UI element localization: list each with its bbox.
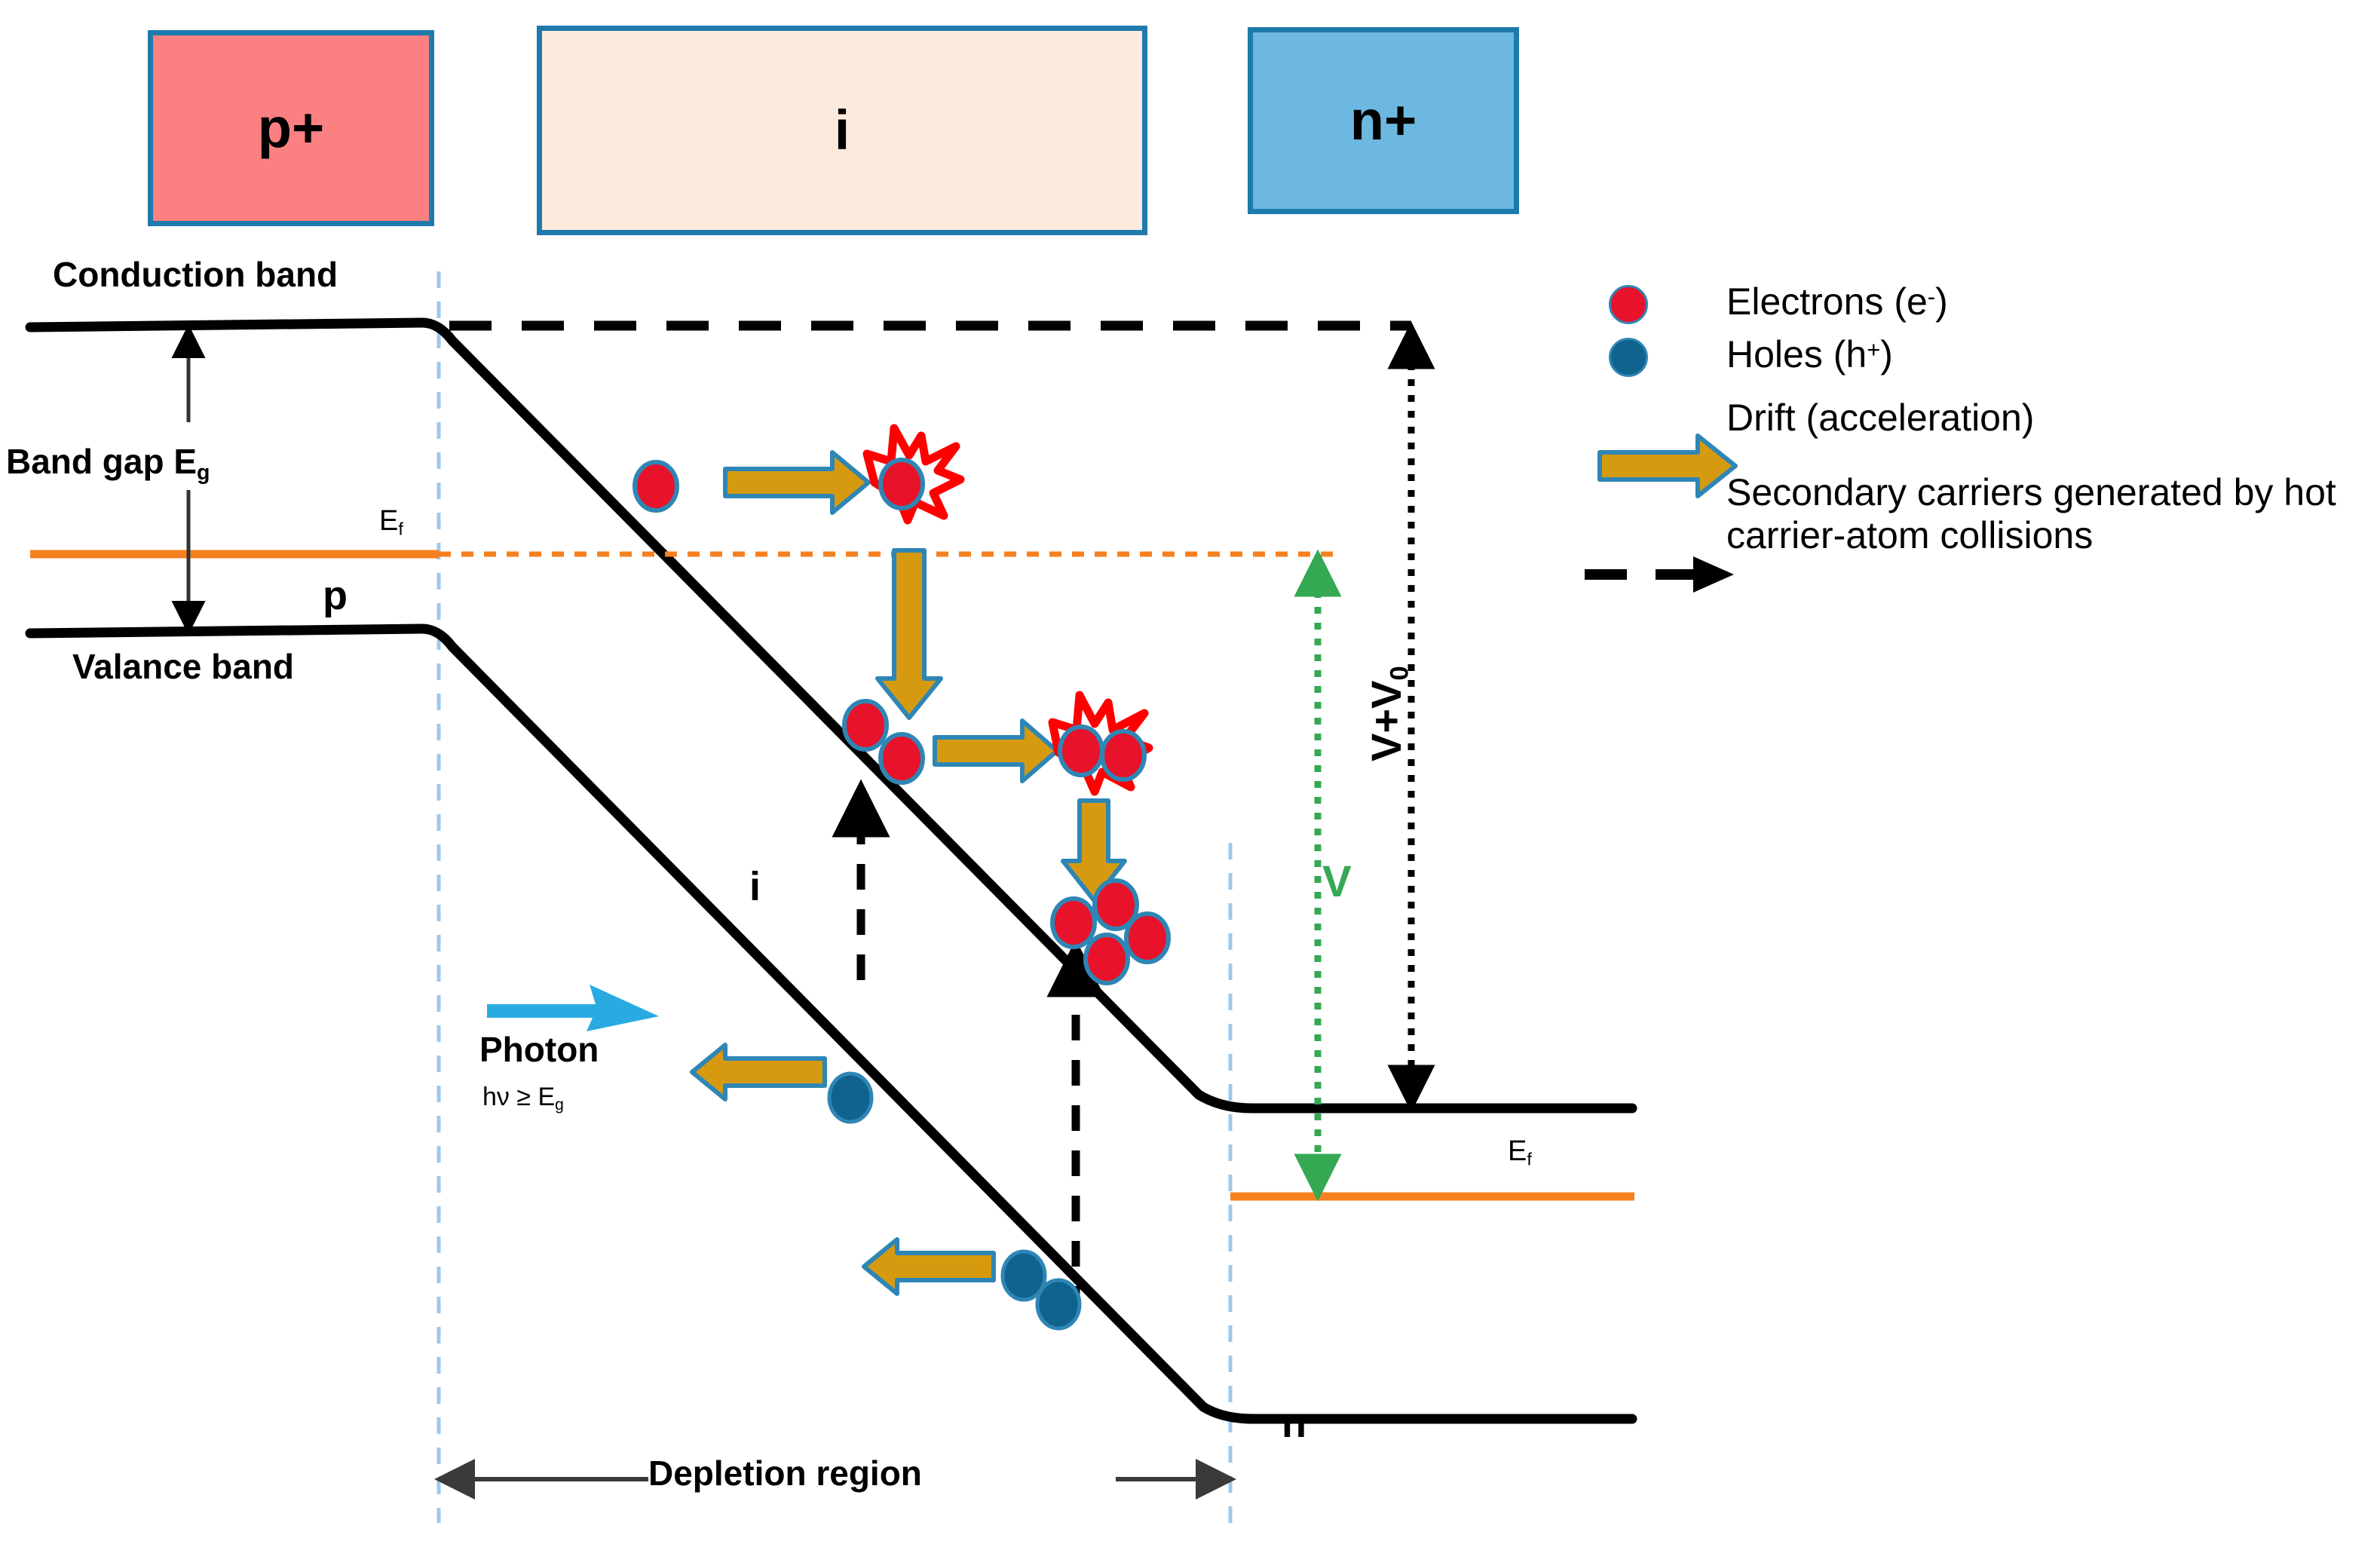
fermi-level-label-right: Ef — [1508, 1137, 1532, 1169]
conduction-band-label: Conduction band — [53, 256, 338, 293]
legend-label-secondary: Secondary carriers generated by hot carr… — [1726, 471, 2375, 557]
legend-holes-tail: ) — [1880, 333, 1893, 375]
drift-arrow-electron-3 — [935, 721, 1057, 781]
fermi-level-label-left: Ef — [379, 507, 403, 538]
legend-electrons-tail: ) — [1935, 280, 1948, 323]
legend-item-drift: Drift (acceleration) — [1583, 397, 2375, 440]
region-label-intrinsic: i — [835, 103, 850, 158]
legend-label-drift: Drift (acceleration) — [1726, 397, 2034, 440]
band-gap-label: Band gap Eg — [6, 443, 210, 485]
region-box-n-plus[interactable]: n+ — [1248, 27, 1519, 214]
bias-total-text: V+V — [1362, 681, 1410, 761]
legend-electrons-superscript: - — [1928, 283, 1935, 310]
legend-label-holes: Holes (h+) — [1726, 333, 1893, 376]
legend-item-secondary: Secondary carriers generated by hot carr… — [1583, 471, 2375, 557]
electron-dot — [881, 460, 923, 508]
p-region-label: p — [323, 574, 348, 617]
electron-dot — [1086, 935, 1128, 983]
band-diagram-svg — [0, 0, 2380, 1541]
electron-dot — [1102, 731, 1144, 780]
valence-band-label: Valance band — [72, 648, 294, 685]
drift-arrow-electron-2 — [878, 550, 941, 718]
photon-energy-label: hν ≥ Eg — [482, 1084, 564, 1114]
legend-item-holes: Holes (h+) — [1583, 333, 2375, 377]
photon-icon — [487, 985, 659, 1031]
fermi-left-text: E — [379, 505, 398, 537]
region-label-p-plus: p+ — [258, 100, 324, 156]
depletion-region-label: Depletion region — [648, 1455, 922, 1491]
electron-dot — [1060, 727, 1102, 775]
electron-dot-icon — [1609, 285, 1648, 324]
hole-dot-icon — [1609, 338, 1648, 377]
electron-dot — [881, 734, 923, 783]
region-box-p-plus[interactable]: p+ — [148, 30, 434, 226]
fermi-right-subscript: f — [1527, 1150, 1532, 1169]
band-gap-text: Band gap E — [6, 442, 197, 481]
region-box-intrinsic[interactable]: i — [537, 26, 1147, 235]
legend-marker-drift — [1583, 397, 1726, 401]
n-region-label: n — [1282, 1402, 1306, 1445]
fermi-right-text: E — [1508, 1135, 1527, 1167]
legend-item-electrons: Electrons (e-) — [1583, 280, 2375, 324]
photon-energy-text: hν ≥ E — [482, 1083, 555, 1111]
drift-arrow-electron-1 — [725, 452, 868, 513]
legend-electrons-text: Electrons (e — [1726, 280, 1928, 323]
legend-marker-electrons — [1583, 280, 1726, 324]
legend-label-electrons: Electrons (e-) — [1726, 280, 1948, 323]
drift-arrow-hole-1 — [692, 1045, 825, 1099]
legend: Electrons (e-) Holes (h+) Drift (acceler… — [1583, 280, 2375, 566]
region-label-n-plus: n+ — [1350, 93, 1417, 149]
electron-carriers — [635, 460, 1169, 983]
electron-dot — [844, 701, 887, 749]
legend-marker-holes — [1583, 333, 1726, 377]
legend-holes-superscript: + — [1867, 336, 1880, 363]
electron-dot — [1052, 899, 1095, 947]
legend-marker-secondary — [1583, 471, 1726, 476]
bias-total-subscript: 0 — [1386, 666, 1414, 680]
legend-secondary-line1: Secondary carriers generated by — [1726, 471, 2273, 513]
i-region-label: i — [749, 865, 761, 908]
electron-dot — [1126, 914, 1169, 962]
legend-holes-text: Holes (h — [1726, 333, 1867, 375]
band-gap-subscript: g — [197, 461, 210, 485]
electron-dot — [635, 462, 677, 510]
hole-carriers — [829, 1074, 1080, 1328]
bias-applied-label: V — [1322, 859, 1352, 905]
drift-arrow-hole-2 — [864, 1239, 994, 1294]
bias-total-label: V+V0 — [1365, 666, 1414, 761]
fermi-left-subscript: f — [398, 519, 403, 539]
hole-dot — [1037, 1280, 1080, 1328]
diagram-canvas: p+ i n+ Conduction band Band gap Eg Vala… — [0, 0, 2380, 1541]
photon-label: Photon — [479, 1031, 599, 1068]
hole-dot — [829, 1074, 871, 1122]
photon-energy-subscript: g — [555, 1096, 564, 1114]
